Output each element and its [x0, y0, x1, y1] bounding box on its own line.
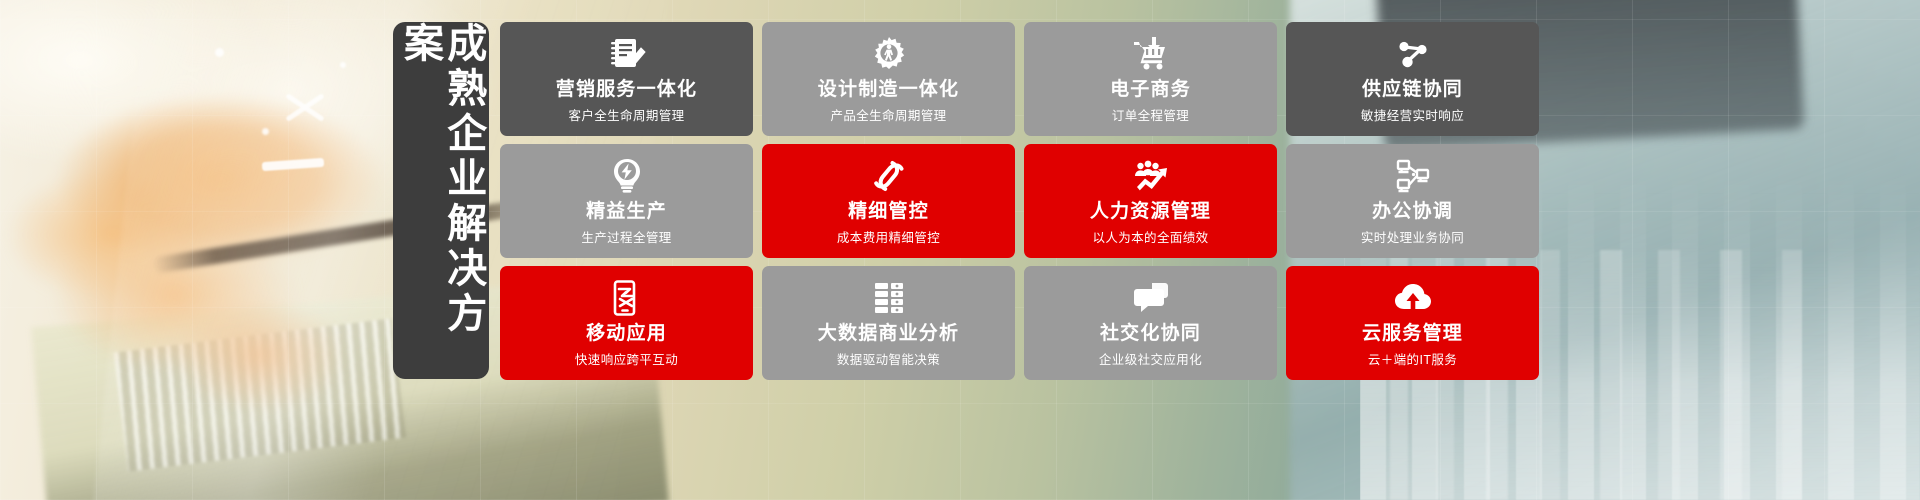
solution-card[interactable]: 供应链协同敏捷经营实时响应	[1286, 22, 1539, 136]
share-nodes-icon	[1394, 34, 1432, 74]
solution-card-title: 电子商务	[1110, 80, 1191, 101]
mobile-exchange-icon	[608, 278, 646, 318]
solution-card-grid: 营销服务一体化客户全生命周期管理 设计制造一体化产品全生命周期管理 电子商务订单…	[500, 22, 1540, 379]
solution-card-title: 社交化协同	[1100, 324, 1201, 345]
solution-card-title: 营销服务一体化	[556, 80, 697, 101]
solution-card-title: 云服务管理	[1362, 324, 1463, 345]
networked-computers-icon	[1394, 156, 1432, 196]
notebook-pen-icon	[608, 34, 646, 74]
solution-card-title: 供应链协同	[1362, 80, 1463, 101]
solution-card-subtitle: 云＋端的IT服务	[1368, 349, 1457, 368]
solution-card[interactable]: 人力资源管理以人为本的全面绩效	[1024, 144, 1277, 258]
solution-card[interactable]: 精细管控成本费用精细管控	[762, 144, 1015, 258]
lightbulb-bolt-icon	[608, 156, 646, 196]
shopping-cart-download-icon	[1132, 34, 1170, 74]
solution-card[interactable]: 电子商务订单全程管理	[1024, 22, 1277, 136]
solution-card[interactable]: 办公协调实时处理业务协同	[1286, 144, 1539, 258]
chain-link-icon	[870, 156, 908, 196]
solution-card-title: 精细管控	[848, 202, 929, 223]
solution-card-subtitle: 快速响应跨平互动	[575, 349, 678, 368]
solution-card-subtitle: 客户全生命周期管理	[568, 105, 684, 124]
solution-card-subtitle: 实时处理业务协同	[1361, 227, 1464, 246]
solution-card-subtitle: 企业级社交应用化	[1099, 349, 1202, 368]
solution-card[interactable]: 精益生产生产过程全管理	[500, 144, 753, 258]
page-title: 成熟企业解决方案	[398, 22, 484, 379]
solution-card[interactable]: 大数据商业分析数据驱动智能决策	[762, 266, 1015, 380]
people-growth-arrow-icon	[1132, 156, 1170, 196]
solution-heading-panel: 成熟企业解决方案	[393, 22, 489, 379]
solution-card-subtitle: 订单全程管理	[1112, 105, 1189, 124]
solution-card[interactable]: 云服务管理云＋端的IT服务	[1286, 266, 1539, 380]
solution-card-title: 移动应用	[586, 324, 667, 345]
solution-card[interactable]: 社交化协同企业级社交应用化	[1024, 266, 1277, 380]
solution-card-subtitle: 数据驱动智能决策	[837, 349, 940, 368]
solution-card-title: 设计制造一体化	[818, 80, 959, 101]
solution-card-subtitle: 敏捷经营实时响应	[1361, 105, 1464, 124]
solution-card-subtitle: 生产过程全管理	[581, 227, 671, 246]
chat-bubbles-icon	[1132, 278, 1170, 318]
solution-card[interactable]: 移动应用快速响应跨平互动	[500, 266, 753, 380]
database-server-icon	[870, 278, 908, 318]
solution-card[interactable]: 设计制造一体化产品全生命周期管理	[762, 22, 1015, 136]
solution-card-title: 办公协调	[1372, 202, 1453, 223]
solution-card-title: 人力资源管理	[1090, 202, 1211, 223]
gear-person-icon	[870, 34, 908, 74]
solution-card[interactable]: 营销服务一体化客户全生命周期管理	[500, 22, 753, 136]
solution-card-subtitle: 以人为本的全面绩效	[1092, 227, 1208, 246]
solution-card-subtitle: 成本费用精细管控	[837, 227, 940, 246]
solution-card-title: 精益生产	[586, 202, 667, 223]
solution-card-title: 大数据商业分析	[818, 324, 959, 345]
cloud-upload-icon	[1394, 278, 1432, 318]
solution-card-subtitle: 产品全生命周期管理	[830, 105, 946, 124]
